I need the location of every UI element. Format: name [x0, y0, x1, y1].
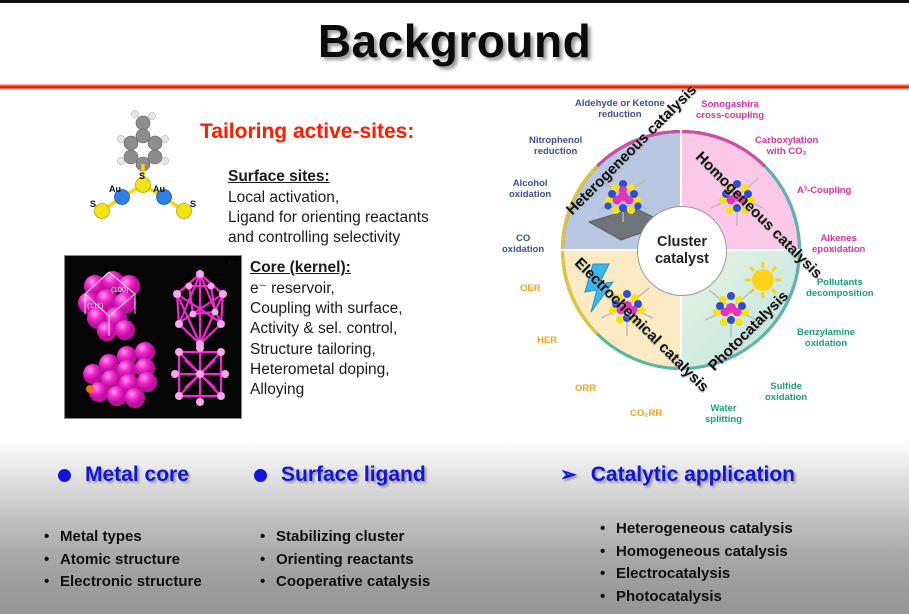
catalysis-wheel-diagram: Aldehyde or Ketonereduction Nitrophenolr… [500, 93, 909, 438]
staple-motif-icon: S S S Au Au [78, 103, 208, 233]
tailoring-heading: Tailoring active-sites: [200, 120, 414, 144]
left-content-panel: S S S Au Au [0, 93, 500, 433]
sat-co2rr: CO₂RR [630, 408, 662, 419]
svg-text:S: S [139, 171, 145, 181]
svg-text:(100): (100) [111, 285, 129, 294]
summary-list-catalytic-application: Heterogeneous catalysis Homogeneous cata… [600, 518, 793, 608]
wheel-body: Heterogeneous catalysis Homogeneous cata… [561, 130, 801, 370]
svg-text:Au: Au [153, 184, 165, 194]
list-item: Electrocatalysis [600, 563, 793, 586]
sat-oer: OER [520, 283, 541, 294]
list-item: Photocatalysis [600, 586, 793, 609]
summary-heading-catalytic-application: ➢ Catalytic application [560, 463, 795, 487]
core-kernel-line-1: e⁻ reservoir, [250, 280, 335, 297]
bottom-summary-panel: Metal core Surface ligand ➢ Catalytic ap… [0, 440, 909, 614]
sat-water-splitting: Watersplitting [705, 403, 742, 425]
surface-sites-line-2: Ligand for orienting reactants [228, 209, 429, 226]
list-item: Electronic structure [44, 571, 202, 594]
sat-co-oxidation: COoxidation [502, 233, 544, 255]
sat-orr: ORR [575, 383, 596, 394]
list-item: Cooperative catalysis [260, 571, 430, 594]
summary-heading-label: Metal core [85, 463, 189, 487]
summary-heading-metal-core: Metal core [58, 463, 189, 487]
core-kernel-block: Core (kernel): e⁻ reservoir, Coupling wi… [250, 258, 403, 400]
summary-heading-label: Surface ligand [281, 463, 426, 487]
sat-alcohol-oxidation: Alcoholoxidation [509, 178, 551, 200]
hub-line-1: Cluster [657, 234, 707, 251]
core-kernel-line-6: Alloying [250, 381, 304, 398]
core-kernel-line-3: Activity & sel. control, [250, 320, 397, 337]
surface-sites-line-1: Local activation, [228, 189, 339, 206]
page-title: Background [0, 14, 909, 68]
list-item: Stabilizing cluster [260, 526, 430, 549]
svg-text:Au: Au [109, 184, 121, 194]
bullet-dot-icon [254, 469, 267, 482]
hub-line-2: catalyst [655, 251, 709, 268]
summary-heading-surface-ligand: Surface ligand [254, 463, 426, 487]
title-band: Background [0, 6, 909, 83]
core-kernel-line-2: Coupling with surface, [250, 300, 403, 317]
sat-alkenes-epoxidation: Alkenesepoxidation [812, 233, 865, 255]
list-item: Atomic structure [44, 549, 202, 572]
sat-a3-coupling: A³-Coupling [797, 185, 851, 196]
svg-text:(111): (111) [87, 301, 104, 310]
core-kernel-line-5: Heterometal doping, [250, 361, 390, 378]
slide-canvas: Background [0, 0, 909, 614]
core-kernel-title: Core (kernel): [250, 258, 403, 278]
sat-benzylamine-oxidation: Benzylamineoxidation [797, 327, 855, 349]
sat-sonogashira-cross-coupling: Sonogashiracross-coupling [696, 99, 764, 121]
list-item: Metal types [44, 526, 202, 549]
sat-sulfide-oxidation: Sulfideoxidation [765, 381, 807, 403]
bullet-dot-icon [58, 469, 71, 482]
nanocluster-model-image: (111) (100) [64, 255, 242, 419]
summary-heading-label: Catalytic application [591, 463, 795, 487]
wheel-hub-cluster-catalyst: Cluster catalyst [637, 206, 727, 296]
svg-text:S: S [190, 199, 196, 209]
sat-pollutants-decomposition: Pollutantsdecomposition [806, 277, 874, 299]
list-item: Orienting reactants [260, 549, 430, 572]
surface-sites-line-4: ... [228, 250, 241, 267]
core-kernel-line-4: Structure tailoring, [250, 341, 376, 358]
summary-list-metal-core: Metal types Atomic structure Electronic … [44, 526, 202, 594]
sat-her: HER [537, 335, 557, 346]
surface-sites-line-3: and controlling selectivity [228, 229, 400, 246]
svg-text:S: S [90, 199, 96, 209]
list-item: Heterogeneous catalysis [600, 518, 793, 541]
arrowhead-icon: ➢ [560, 465, 577, 485]
list-item: Homogeneous catalysis [600, 541, 793, 564]
red-divider-rule [0, 83, 909, 90]
summary-list-surface-ligand: Stabilizing cluster Orienting reactants … [260, 526, 430, 594]
surface-sites-block: Surface sites: Local activation, Ligand … [228, 167, 429, 269]
surface-sites-title: Surface sites: [228, 167, 429, 187]
